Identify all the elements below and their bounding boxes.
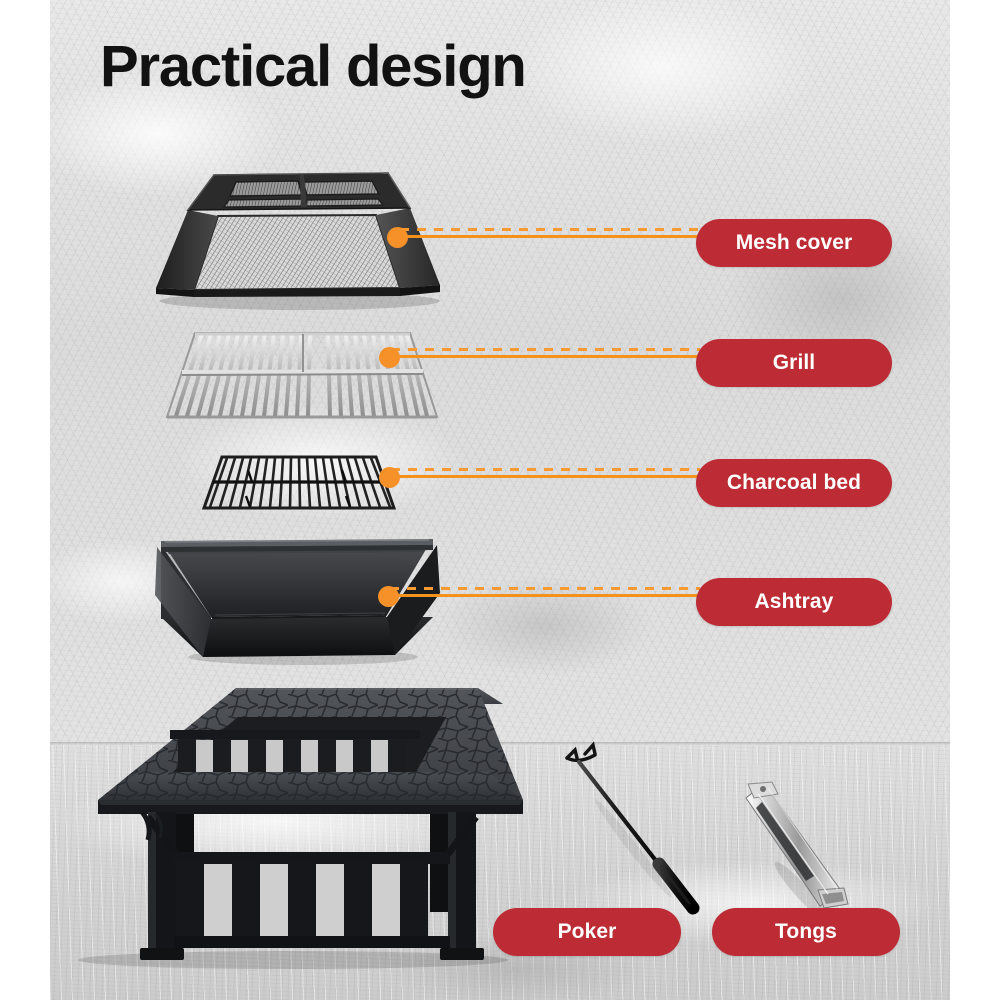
connector-dashed-segment: [391, 468, 700, 471]
callout-badge-charcoal-bed[interactable]: Charcoal bed: [696, 459, 892, 507]
connector-solid-segment: [391, 355, 700, 358]
callout-label: Poker: [558, 920, 617, 944]
callout-badge-mesh-cover[interactable]: Mesh cover: [696, 219, 892, 267]
connector-line-charcoal-bed: [391, 468, 700, 482]
callout-label: Charcoal bed: [727, 471, 861, 495]
connector-line-grill: [391, 348, 700, 362]
callout-badge-tongs[interactable]: Tongs: [712, 908, 900, 956]
callout-label: Grill: [773, 351, 816, 375]
product-charcoal-bed: [196, 452, 401, 514]
connector-dashed-segment: [400, 228, 700, 231]
callout-badge-poker[interactable]: Poker: [493, 908, 681, 956]
callout-badge-ashtray[interactable]: Ashtray: [696, 578, 892, 626]
connector-solid-segment: [390, 594, 700, 597]
connector-dashed-segment: [391, 348, 700, 351]
connector-solid-segment: [391, 475, 700, 478]
connector-dashed-segment: [390, 587, 700, 590]
connector-line-ashtray: [390, 587, 700, 601]
callout-label: Ashtray: [755, 590, 834, 614]
connector-solid-segment: [400, 235, 700, 238]
page-title: Practical design: [100, 38, 526, 96]
product-poker: [555, 728, 715, 913]
infographic-canvas: Practical design: [0, 0, 1000, 1000]
product-tongs: [740, 780, 860, 915]
connector-dot-charcoal-bed: [379, 467, 400, 488]
connector-dot-ashtray: [378, 586, 399, 607]
connector-dot-mesh-cover: [387, 227, 408, 248]
connector-dot-grill: [379, 347, 400, 368]
product-grill: [155, 325, 440, 425]
callout-label: Mesh cover: [736, 231, 853, 255]
callout-label: Tongs: [775, 920, 837, 944]
connector-line-mesh-cover: [400, 228, 700, 242]
callout-badge-grill[interactable]: Grill: [696, 339, 892, 387]
product-fire-pit-table: [48, 672, 538, 972]
